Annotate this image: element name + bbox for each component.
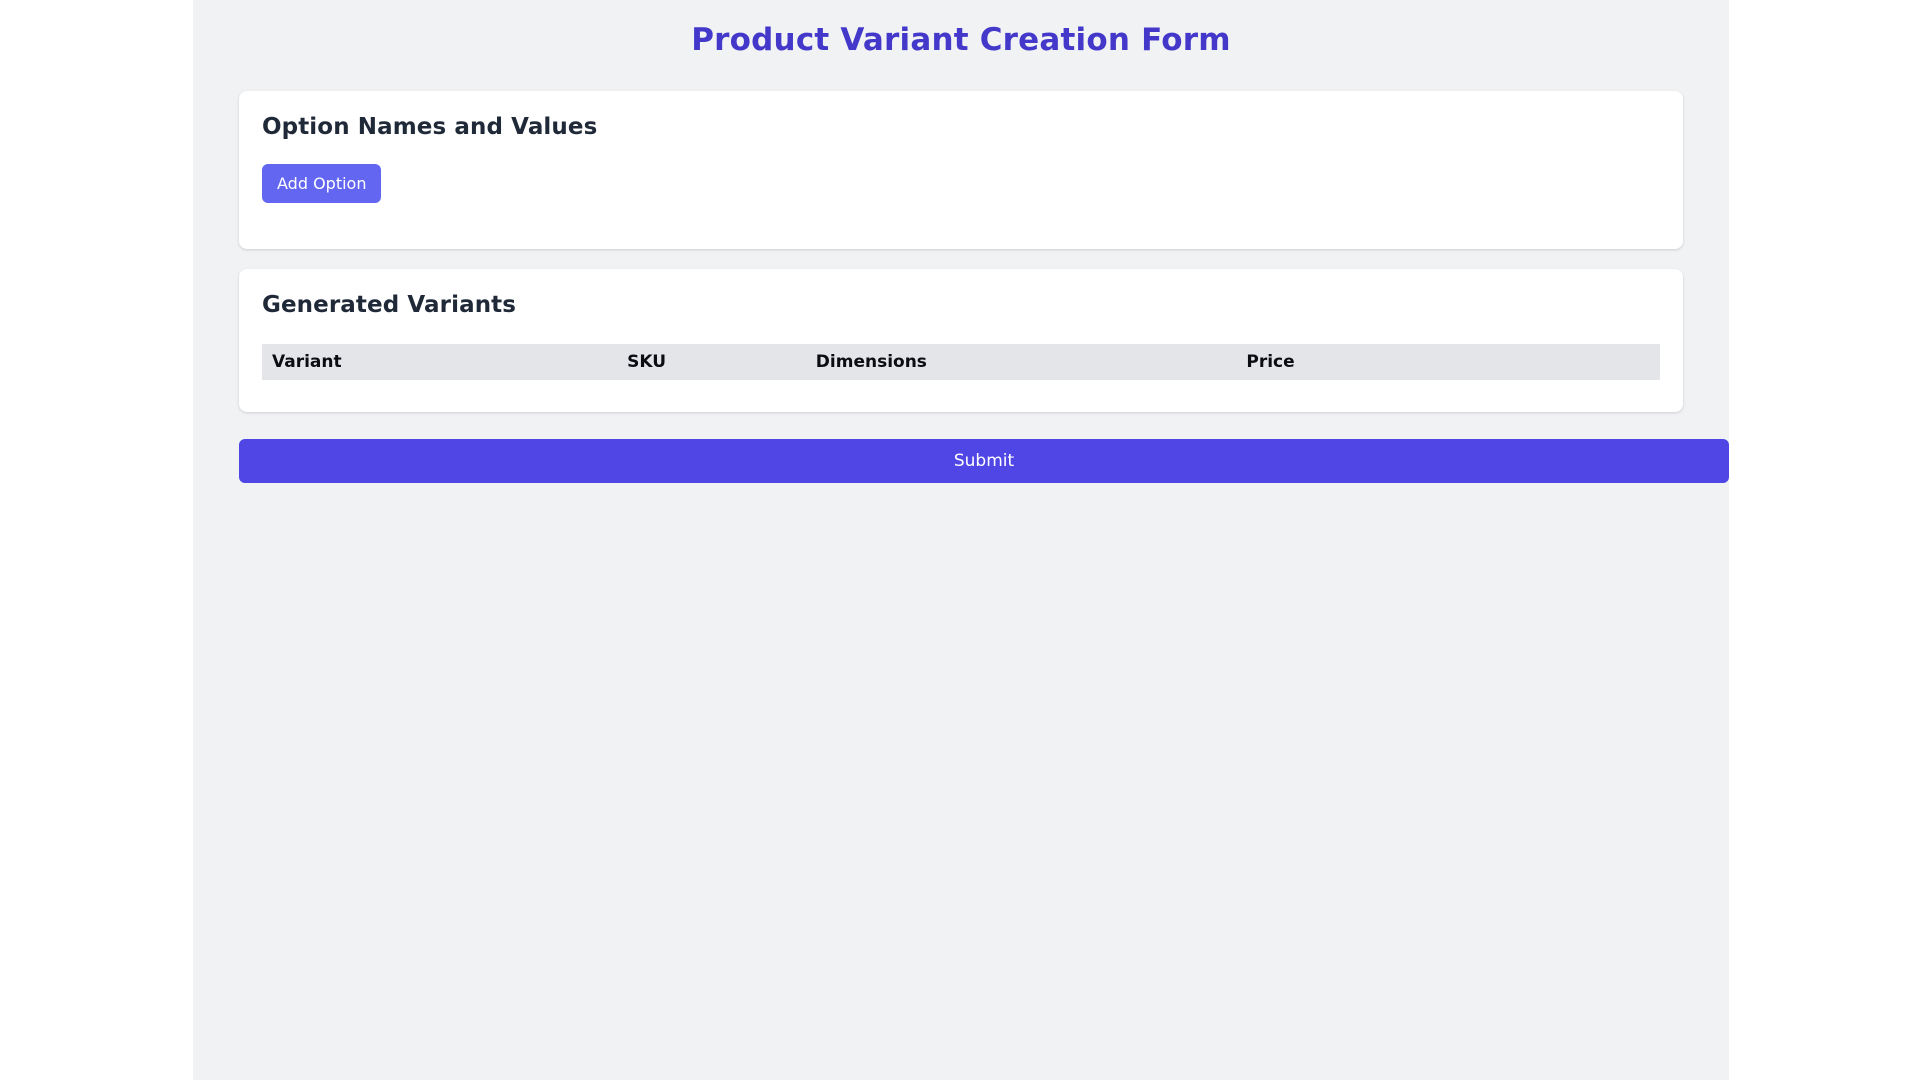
- table-header-row: Variant SKU Dimensions Price: [262, 344, 1660, 380]
- submit-button[interactable]: Submit: [239, 439, 1729, 483]
- column-header-variant[interactable]: Variant: [262, 344, 617, 380]
- variants-section-heading: Generated Variants: [262, 292, 1660, 318]
- option-names-and-values-card: Option Names and Values Add Option: [239, 91, 1683, 249]
- page-container: Product Variant Creation Form Option Nam…: [193, 0, 1729, 1080]
- generated-variants-card: Generated Variants Variant SKU Dimension…: [239, 269, 1683, 412]
- column-header-sku[interactable]: SKU: [617, 344, 806, 380]
- content-wrapper: Option Names and Values Add Option Gener…: [216, 91, 1706, 483]
- generated-variants-table: Variant SKU Dimensions Price: [262, 344, 1660, 380]
- table-header: Variant SKU Dimensions Price: [262, 344, 1660, 380]
- column-header-price[interactable]: Price: [1236, 344, 1660, 380]
- add-option-button[interactable]: Add Option: [262, 164, 381, 203]
- options-section-heading: Option Names and Values: [262, 114, 1660, 140]
- column-header-dimensions[interactable]: Dimensions: [806, 344, 1237, 380]
- page-title: Product Variant Creation Form: [193, 0, 1729, 58]
